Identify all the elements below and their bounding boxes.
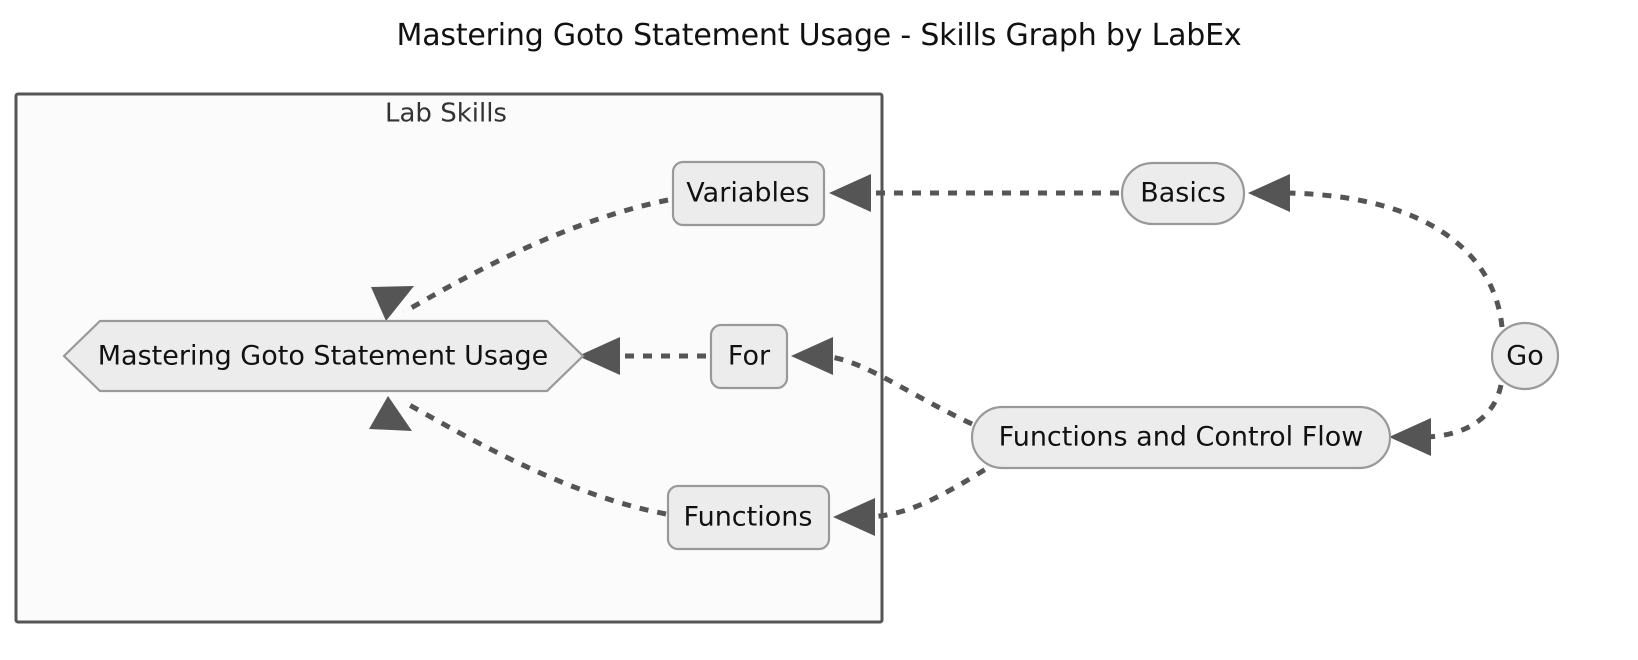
node-basics[interactable]: Basics	[1122, 163, 1244, 224]
node-label-basics: Basics	[1140, 178, 1226, 209]
skills-graph-diagram: Mastering Goto Statement Usage - Skills …	[0, 0, 1638, 660]
node-label-for: For	[728, 341, 771, 372]
node-variables[interactable]: Variables	[673, 162, 824, 225]
node-label-functions: Functions	[684, 502, 813, 533]
node-label-mastering-goto-statement-usage: Mastering Goto Statement Usage	[98, 341, 548, 372]
cluster-label: Lab Skills	[385, 99, 507, 129]
edge-go-basics	[1288, 193, 1502, 327]
graph-canvas: Lab Skills	[0, 0, 1638, 660]
edge-go-functions-and-control-flow	[1422, 385, 1501, 437]
arrowhead-basics	[1248, 174, 1290, 212]
node-functions-and-control-flow[interactable]: Functions and Control Flow	[972, 407, 1390, 468]
node-mastering-goto-statement-usage[interactable]: Mastering Goto Statement Usage	[64, 321, 583, 391]
node-label-variables: Variables	[686, 178, 809, 209]
node-functions[interactable]: Functions	[668, 486, 829, 549]
node-label-go: Go	[1506, 341, 1543, 372]
node-for[interactable]: For	[711, 325, 787, 388]
node-go[interactable]: Go	[1492, 323, 1558, 389]
node-label-functions-and-control-flow: Functions and Control Flow	[999, 422, 1364, 453]
arrowhead-functions-and-control-flow	[1389, 418, 1431, 456]
